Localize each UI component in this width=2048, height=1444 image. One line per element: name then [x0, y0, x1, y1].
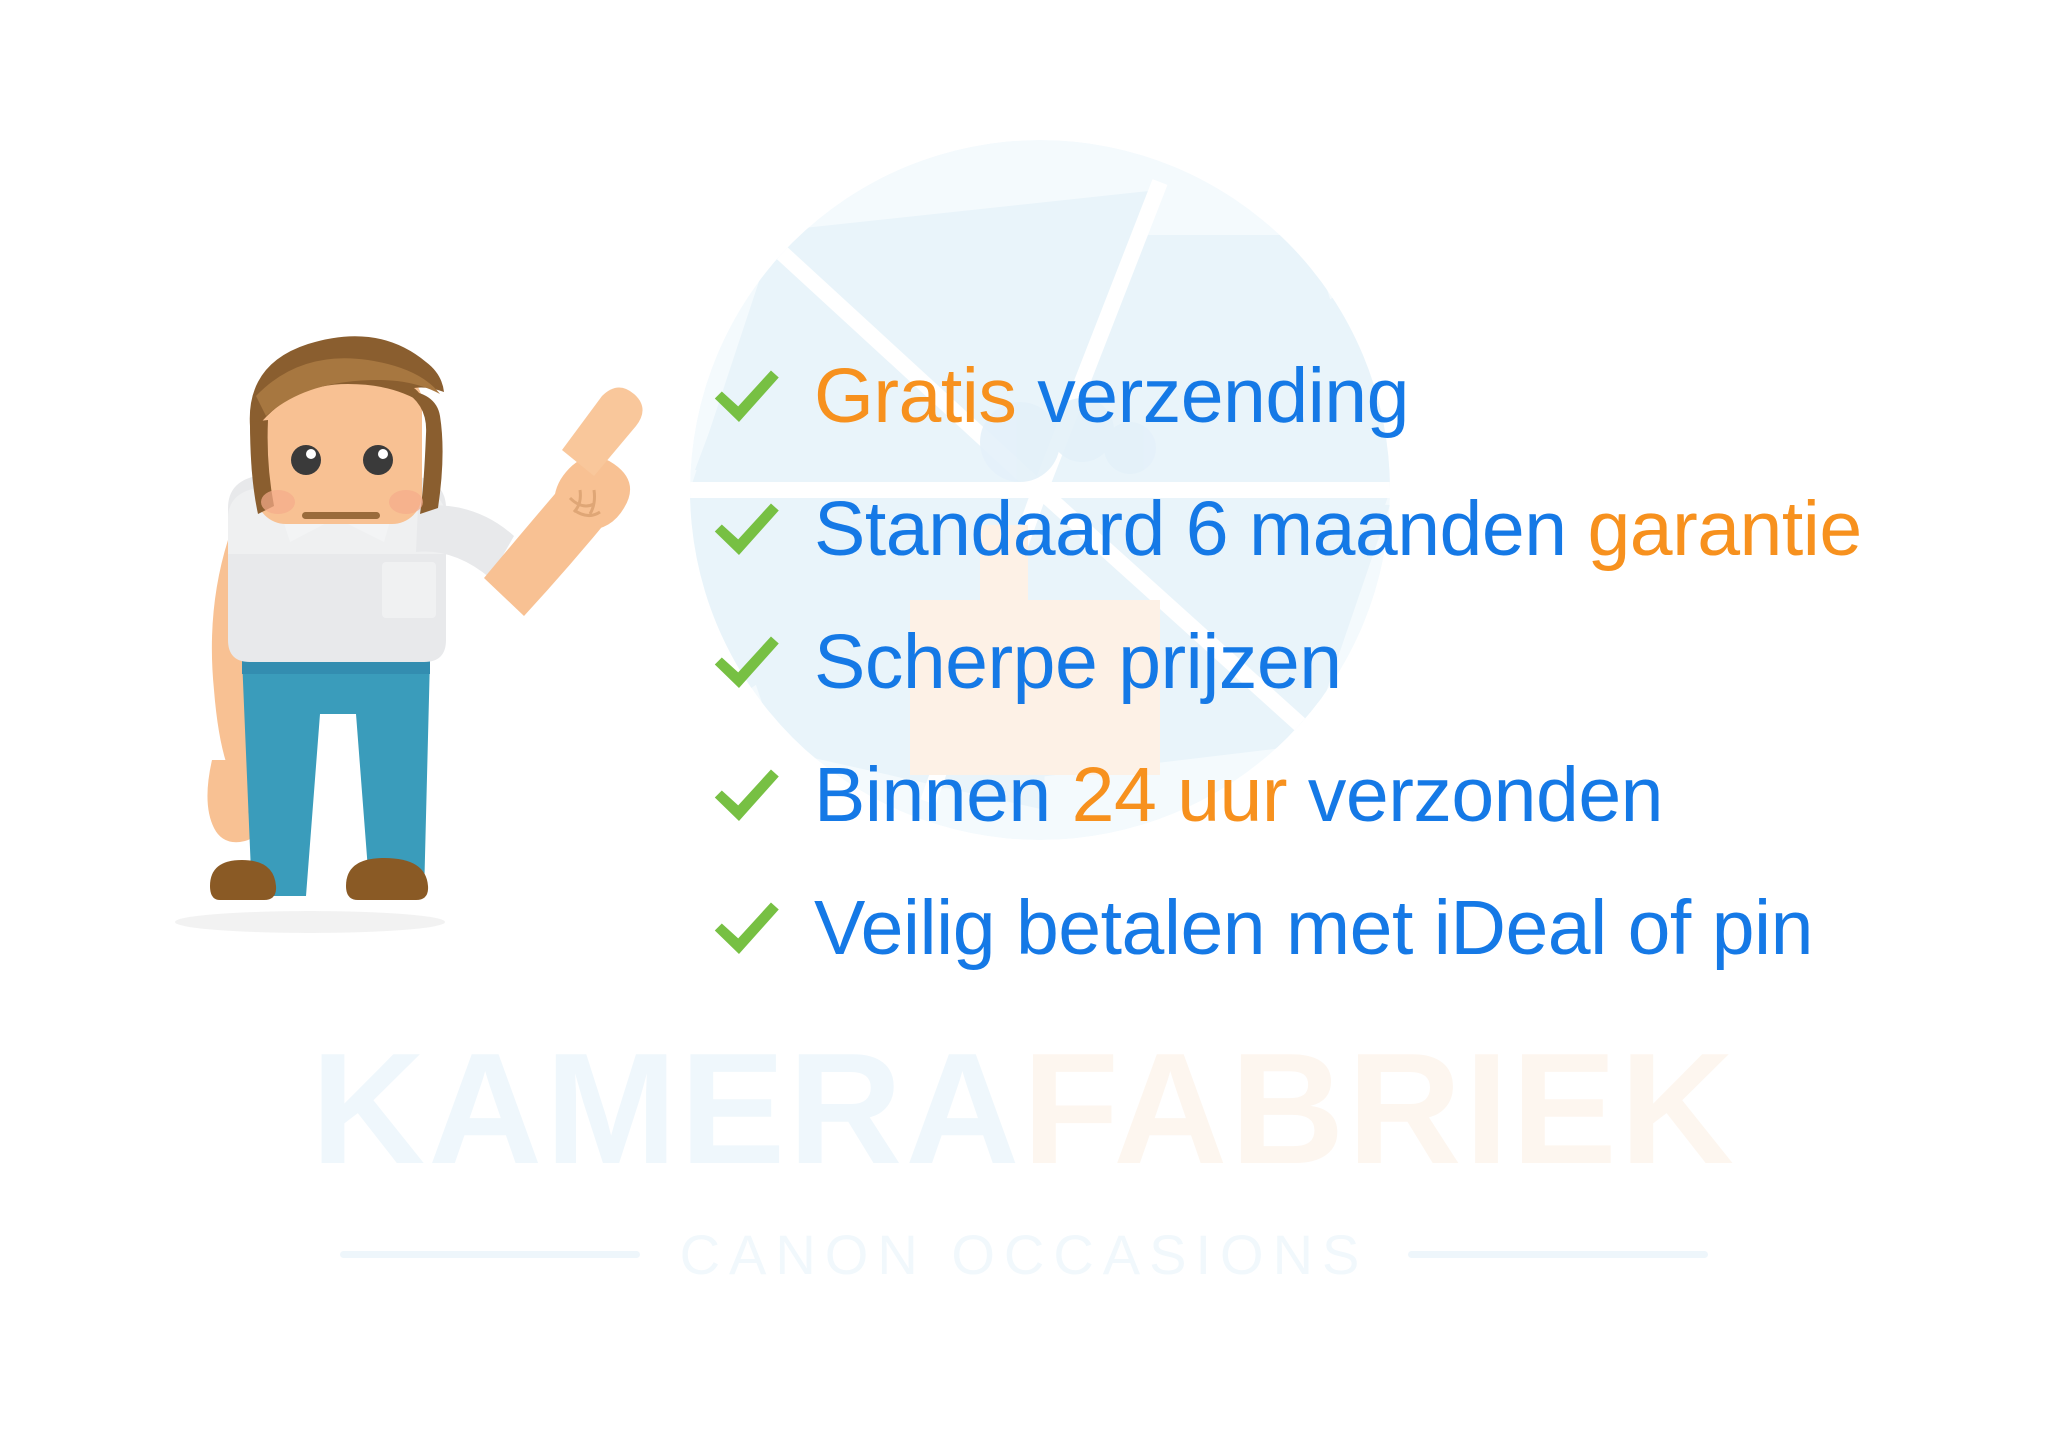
feature-label: Scherpe prijzen: [814, 624, 1342, 701]
feature-label-part: Standaard 6 maanden: [814, 486, 1587, 572]
right-eye: [363, 445, 393, 475]
left-eye: [291, 445, 321, 475]
feature-row: Scherpe prijzen: [700, 596, 2020, 729]
feature-list: Gratis verzending Standaard 6 maanden ga…: [700, 330, 2020, 995]
feature-label-part: 24 uur: [1072, 752, 1287, 838]
tagline-rule-right: [1408, 1251, 1708, 1258]
check-icon: [700, 484, 792, 576]
check-icon: [700, 750, 792, 842]
poster-canvas: Gratis verzending Standaard 6 maanden ga…: [0, 0, 2048, 1444]
feature-label-part: Gratis: [814, 353, 1016, 439]
check-icon: [700, 883, 792, 975]
tagline-rule-left: [340, 1251, 640, 1258]
feature-label: Veilig betalen met iDeal of pin: [814, 890, 1813, 967]
mouth: [302, 512, 380, 519]
ground-shadow: [175, 911, 445, 933]
feature-row: Gratis verzending: [700, 330, 2020, 463]
brand-tagline: CANON OCCASIONS: [680, 1222, 1369, 1287]
check-icon: [700, 351, 792, 443]
pointing-man-illustration: [150, 330, 650, 990]
brand-watermark: KAMERAFABRIEK: [0, 1030, 2048, 1188]
feature-label: Gratis verzending: [814, 358, 1409, 435]
feature-label: Standaard 6 maanden garantie: [814, 491, 1862, 568]
feature-row: Veilig betalen met iDeal of pin: [700, 862, 2020, 995]
feature-label: Binnen 24 uur verzonden: [814, 757, 1663, 834]
feature-row: Standaard 6 maanden garantie: [700, 463, 2020, 596]
feature-label-part: verzending: [1016, 353, 1409, 439]
feature-label-part: Veilig betalen met iDeal of pin: [814, 885, 1813, 971]
feature-label-part: Scherpe prijzen: [814, 619, 1342, 705]
feature-label-part: verzonden: [1287, 752, 1663, 838]
feature-row: Binnen 24 uur verzonden: [700, 729, 2020, 862]
index-finger: [562, 387, 643, 476]
brand-watermark-part-kamera: KAMERA: [311, 1021, 1022, 1197]
feature-label-part: Binnen: [814, 752, 1072, 838]
feature-label-part: garantie: [1587, 486, 1861, 572]
check-icon: [700, 617, 792, 709]
brand-watermark-part-fabriek: FABRIEK: [1022, 1021, 1737, 1197]
brand-tagline-row: CANON OCCASIONS: [0, 1222, 2048, 1287]
